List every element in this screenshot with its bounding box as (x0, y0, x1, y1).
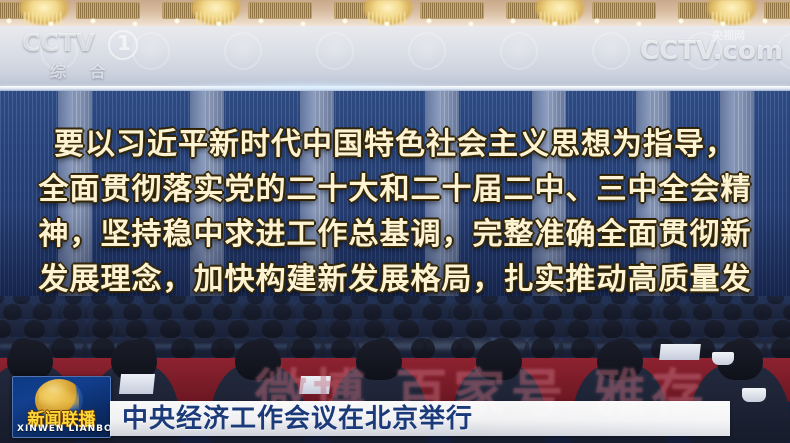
audience-head (670, 320, 691, 338)
audience-head (568, 320, 589, 338)
audience-seating (0, 296, 790, 443)
audience-head (451, 338, 475, 359)
audience-head (213, 304, 232, 320)
audience-head (513, 304, 532, 320)
audience-head (364, 320, 385, 338)
ceiling-light (90, 18, 96, 24)
audience-head (704, 320, 725, 338)
audience-head (483, 304, 502, 320)
audience-head (738, 320, 759, 338)
document-paper (659, 344, 701, 360)
ceiling-light (174, 18, 180, 24)
wall-medallion (316, 32, 354, 70)
ceiling-light (510, 18, 516, 24)
ceiling-panel (76, 2, 140, 19)
ceiling-panel (764, 2, 790, 19)
wall-medallion (500, 32, 538, 70)
document-paper (299, 376, 331, 394)
audience-head (262, 320, 283, 338)
channel-number: 1 (117, 31, 131, 55)
audience-head (411, 338, 435, 359)
tea-cup (742, 388, 766, 402)
audience-head-front (476, 340, 522, 380)
audience-head (153, 304, 172, 320)
audience-head (331, 338, 355, 359)
wall-medallion (408, 32, 446, 70)
audience-head (160, 320, 181, 338)
audience-head (303, 304, 322, 320)
chandelier (706, 0, 758, 26)
audience-head (633, 304, 652, 320)
audience-head (126, 320, 147, 338)
ceiling-light (594, 18, 600, 24)
ceiling-light (426, 18, 432, 24)
audience-head (3, 304, 22, 320)
audience-head (398, 320, 419, 338)
audience-head (573, 304, 592, 320)
audience-head (393, 304, 412, 320)
audience-head (330, 320, 351, 338)
audience-head (296, 320, 317, 338)
audience-head (194, 320, 215, 338)
cctv-com-chinese: 央视网 (712, 27, 745, 43)
audience-head (423, 304, 442, 320)
audience-head (363, 304, 382, 320)
audience-head-front (356, 340, 402, 380)
audience-head (171, 338, 195, 359)
wall-shadow (0, 211, 790, 306)
audience-head (228, 320, 249, 338)
wall-medallion (592, 32, 630, 70)
audience-head (771, 338, 790, 359)
audience-head (466, 320, 487, 338)
ceiling-light (258, 18, 264, 24)
ceiling-panel (592, 2, 656, 19)
audience-head (753, 304, 772, 320)
wall-medallion (224, 32, 262, 70)
audience-head (273, 304, 292, 320)
ceiling-light (762, 18, 768, 24)
audience-head-front (235, 340, 281, 380)
audience-head (453, 304, 472, 320)
audience-head (183, 304, 202, 320)
audience-head (92, 320, 113, 338)
audience-head (783, 304, 790, 320)
audience-head (602, 320, 623, 338)
audience-head (211, 338, 235, 359)
audience-head (534, 320, 555, 338)
ceiling-light (6, 18, 12, 24)
chandelier (18, 0, 70, 26)
ceiling-panel (420, 2, 484, 19)
audience-head-front (7, 340, 53, 380)
audience-head (24, 320, 45, 338)
audience-head (723, 304, 742, 320)
audience-head (33, 304, 52, 320)
audience-head (291, 338, 315, 359)
audience-head (500, 320, 521, 338)
audience-head (543, 304, 562, 320)
ceiling-light (342, 18, 348, 24)
audience-head (531, 338, 555, 359)
tea-cup (712, 352, 734, 365)
channel-name-label: 综 合 (50, 58, 115, 82)
audience-head (571, 338, 595, 359)
audience-head-front (597, 340, 643, 380)
audience-head (636, 320, 657, 338)
audience-head (772, 320, 790, 338)
audience-head (333, 304, 352, 320)
stage-back-wall (0, 91, 790, 306)
ceiling-panel (248, 2, 312, 19)
chandelier (534, 0, 586, 26)
audience-head (93, 304, 112, 320)
cctv-com-watermark: CCTV.com 央视网 (640, 36, 783, 66)
audience-head (603, 304, 622, 320)
audience-head (51, 338, 75, 359)
audience-head (432, 320, 453, 338)
audience-head (63, 304, 82, 320)
cctv1-channel-bug: CCTV 1 综 合 (22, 28, 144, 84)
audience-head (58, 320, 79, 338)
audience-head (663, 304, 682, 320)
broadcast-screen: 要以习近平新时代中国特色社会主义思想为指导， 全面贯彻落实党的二十大和二十届二中… (0, 0, 790, 443)
hall-ceiling (0, 0, 790, 26)
document-paper (119, 374, 155, 394)
audience-head (123, 304, 142, 320)
audience-head (693, 304, 712, 320)
ceiling-light (678, 18, 684, 24)
audience-head (243, 304, 262, 320)
